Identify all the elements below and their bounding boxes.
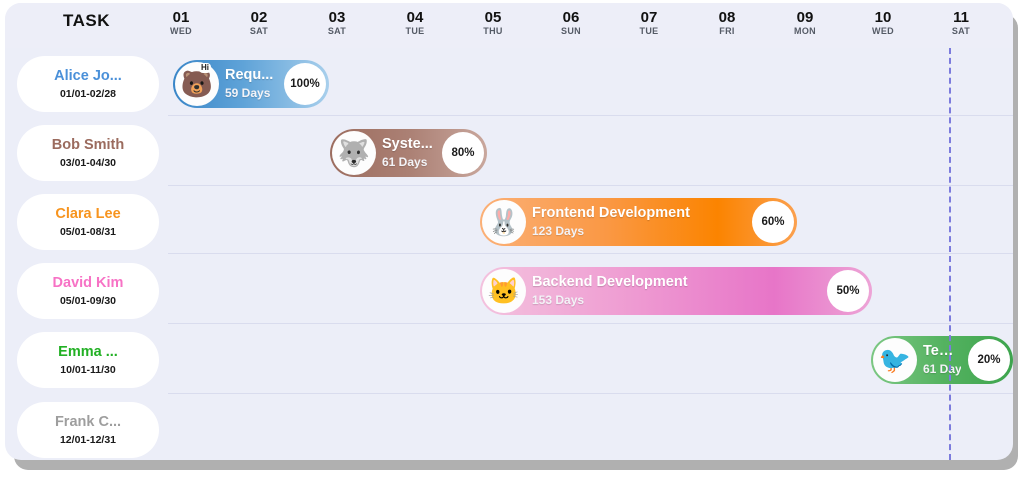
rabbit-avatar: 🐰: [482, 200, 526, 244]
day-weekday: SAT: [229, 26, 289, 37]
bear-avatar: 🐻: [175, 62, 219, 106]
bird-avatar: 🐦: [873, 338, 917, 382]
day-weekday: TUE: [385, 26, 445, 37]
day-number: 11: [931, 9, 991, 26]
day-weekday: FRI: [697, 26, 757, 37]
task-bar-backend-development[interactable]: 🐱 Backend Development 153 Days 50%: [480, 267, 872, 315]
task-bar-frontend-development[interactable]: 🐰 Frontend Development 123 Days 60%: [480, 198, 797, 246]
task-title: Syste...: [382, 135, 435, 154]
progress-badge: 100%: [284, 63, 326, 105]
assignee-dates: 01/01-02/28: [60, 87, 116, 101]
timeline-day-3[interactable]: 04 TUE: [385, 9, 445, 37]
progress-badge: 50%: [827, 270, 869, 312]
assignee-name: Clara Lee: [55, 205, 120, 223]
day-weekday: THU: [463, 26, 523, 37]
timeline-day-0[interactable]: 01 WED: [151, 9, 211, 37]
task-duration: 61 Days: [923, 361, 961, 378]
timeline-day-8[interactable]: 09 MON: [775, 9, 835, 37]
timeline-day-6[interactable]: 07 TUE: [619, 9, 679, 37]
today-marker-line: [949, 48, 951, 460]
assignee-dates: 10/01-11/30: [60, 363, 115, 377]
rabbit-avatar-glyph: 🐰: [488, 209, 520, 235]
progress-badge: 80%: [442, 132, 484, 174]
wolf-avatar-glyph: 🐺: [338, 140, 370, 166]
day-number: 09: [775, 9, 835, 26]
assignee-name: Emma ...: [58, 343, 118, 361]
cat-avatar-glyph: 🐱: [488, 278, 520, 304]
task-duration: 123 Days: [532, 223, 745, 240]
day-number: 04: [385, 9, 445, 26]
task-title: Frontend Development: [532, 204, 745, 223]
assignee-dates: 05/01-09/30: [60, 294, 116, 308]
task-row-label-0[interactable]: Alice Jo... 01/01-02/28: [17, 56, 159, 112]
day-weekday: WED: [853, 26, 913, 37]
day-number: 03: [307, 9, 367, 26]
cat-avatar: 🐱: [482, 269, 526, 313]
task-bar-text: Backend Development 153 Days: [532, 273, 820, 309]
timeline-day-4[interactable]: 05 THU: [463, 9, 523, 37]
timeline-day-5[interactable]: 06 SUN: [541, 9, 601, 37]
gantt-panel: TASK 01 WED 02 SAT 03 SAT 04 TUE 05 THU: [5, 3, 1013, 460]
row-separator: [168, 185, 1013, 186]
task-row-label-4[interactable]: Emma ... 10/01-11/30: [17, 332, 159, 388]
task-bar-testing[interactable]: 🐦 Testi... 61 Days 20%: [871, 336, 1013, 384]
task-title: Testi...: [923, 342, 961, 361]
day-weekday: SAT: [307, 26, 367, 37]
task-bar-text: Syste... 61 Days: [382, 135, 435, 171]
day-number: 07: [619, 9, 679, 26]
task-row-label-1[interactable]: Bob Smith 03/01-04/30: [17, 125, 159, 181]
timeline-day-1[interactable]: 02 SAT: [229, 9, 289, 37]
day-weekday: WED: [151, 26, 211, 37]
task-row-label-3[interactable]: David Kim 05/01-09/30: [17, 263, 159, 319]
day-weekday: SUN: [541, 26, 601, 37]
assignee-name: Alice Jo...: [54, 67, 122, 85]
day-number: 10: [853, 9, 913, 26]
speech-bubble: Hi: [199, 63, 211, 73]
task-column-header: TASK: [5, 11, 168, 31]
row-separator: [168, 253, 1013, 254]
timeline-day-9[interactable]: 10 WED: [853, 9, 913, 37]
day-number: 06: [541, 9, 601, 26]
assignee-name: David Kim: [53, 274, 124, 292]
gantt-chart-screen: TASK 01 WED 02 SAT 03 SAT 04 TUE 05 THU: [0, 0, 1024, 477]
task-duration: 153 Days: [532, 292, 820, 309]
progress-badge: 60%: [752, 201, 794, 243]
task-bar-requirements[interactable]: 🐻 Hi Requ... 59 Days 100%: [173, 60, 329, 108]
task-title: Requ...: [225, 66, 277, 85]
task-title: Backend Development: [532, 273, 820, 292]
assignee-name: Frank C...: [55, 413, 121, 431]
gantt-header: TASK 01 WED 02 SAT 03 SAT 04 TUE 05 THU: [5, 3, 1013, 48]
bear-avatar-glyph: 🐻: [181, 71, 213, 97]
day-weekday: MON: [775, 26, 835, 37]
task-bar-system-design[interactable]: 🐺 Syste... 61 Days 80%: [330, 129, 487, 177]
row-separator: [168, 323, 1013, 324]
task-bar-text: Testi... 61 Days: [923, 342, 961, 378]
task-row-label-2[interactable]: Clara Lee 05/01-08/31: [17, 194, 159, 250]
task-bar-text: Requ... 59 Days: [225, 66, 277, 102]
row-separator: [168, 115, 1013, 116]
timeline-day-2[interactable]: 03 SAT: [307, 9, 367, 37]
timeline-day-7[interactable]: 08 FRI: [697, 9, 757, 37]
task-duration: 59 Days: [225, 85, 277, 102]
day-number: 08: [697, 9, 757, 26]
day-number: 01: [151, 9, 211, 26]
day-number: 05: [463, 9, 523, 26]
day-weekday: TUE: [619, 26, 679, 37]
assignee-name: Bob Smith: [52, 136, 125, 154]
task-duration: 61 Days: [382, 154, 435, 171]
wolf-avatar: 🐺: [332, 131, 376, 175]
progress-badge: 20%: [968, 339, 1010, 381]
day-number: 02: [229, 9, 289, 26]
day-weekday: SAT: [931, 26, 991, 37]
assignee-dates: 12/01-12/31: [60, 433, 116, 447]
task-bar-text: Frontend Development 123 Days: [532, 204, 745, 240]
timeline-day-10[interactable]: 11 SAT: [931, 9, 991, 37]
task-row-label-5[interactable]: Frank C... 12/01-12/31: [17, 402, 159, 458]
assignee-dates: 03/01-04/30: [60, 156, 116, 170]
bird-avatar-glyph: 🐦: [879, 347, 911, 373]
assignee-dates: 05/01-08/31: [60, 225, 116, 239]
row-separator: [168, 393, 1013, 394]
